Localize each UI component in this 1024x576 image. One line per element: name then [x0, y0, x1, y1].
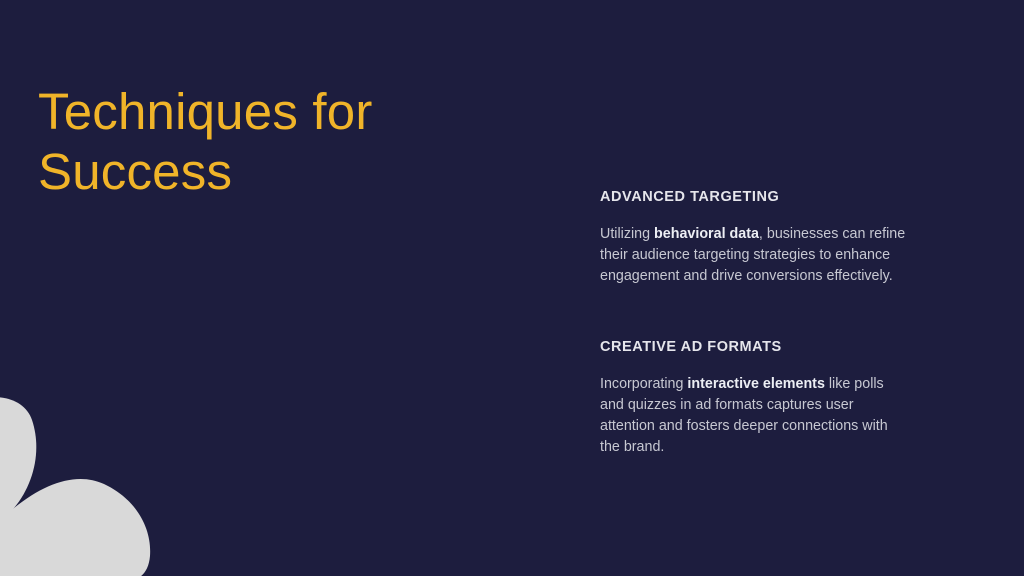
block-body: Utilizing behavioral data, businesses ca… — [600, 224, 910, 286]
content-column: ADVANCED TARGETING Utilizing behavioral … — [600, 188, 910, 458]
petal-upper-lobe — [0, 397, 36, 536]
block-heading: ADVANCED TARGETING — [600, 188, 910, 206]
slide-title: Techniques for Success — [38, 82, 518, 202]
content-block-advanced-targeting: ADVANCED TARGETING Utilizing behavioral … — [600, 188, 910, 286]
petal-lower-lobe — [0, 479, 150, 576]
content-block-creative-ad-formats: CREATIVE AD FORMATS Incorporating intera… — [600, 338, 910, 457]
block-body: Incorporating interactive elements like … — [600, 374, 910, 457]
slide-canvas: Techniques for Success ADVANCED TARGETIN… — [0, 0, 1024, 576]
block-heading: CREATIVE AD FORMATS — [600, 338, 910, 356]
decorative-petal-shape — [0, 376, 200, 576]
